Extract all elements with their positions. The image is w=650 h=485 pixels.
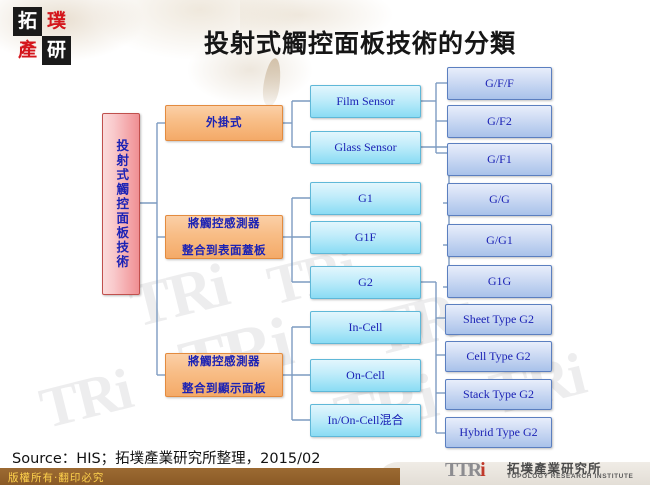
footer-copyright-bar: 版權所有‧翻印必究 — [0, 468, 400, 485]
node-level2-glass-sensor[interactable]: Glass Sensor — [310, 131, 421, 164]
node-level3-gf1[interactable]: G/F1 — [447, 143, 552, 176]
node-level2-in-cell[interactable]: In-Cell — [310, 311, 421, 344]
tri-brand-name-en: TOPOLOGY RESEARCH INSTITUTE — [507, 473, 633, 480]
node-label: Film Sensor — [336, 95, 394, 109]
node-root-label: 投射式觸控面板技術 — [114, 139, 128, 270]
node-level2-g1[interactable]: G1 — [310, 182, 421, 215]
node-label: G1F — [355, 231, 376, 245]
node-label: On-Cell — [346, 369, 385, 383]
node-label: In-Cell — [349, 321, 383, 335]
node-label: In/On-Cell混合 — [328, 414, 404, 428]
node-level2-on-cell[interactable]: On-Cell — [310, 359, 421, 392]
node-level3-stack-type-g2[interactable]: Stack Type G2 — [445, 379, 552, 410]
node-label-line2: 整合到表面蓋板 — [182, 244, 266, 257]
tri-wordmark-accent: i — [480, 459, 484, 481]
node-label: G/G — [489, 193, 510, 207]
node-label: G/F2 — [487, 115, 512, 129]
node-level1-sensor-in-display[interactable]: 將觸控感測器 整合到顯示面板 — [165, 353, 283, 397]
node-level3-gff[interactable]: G/F/F — [447, 67, 552, 100]
tri-wordmark: TTRi — [445, 459, 484, 482]
node-level2-film-sensor[interactable]: Film Sensor — [310, 85, 421, 118]
node-label: G1G — [488, 275, 511, 289]
node-level3-g1g[interactable]: G1G — [447, 265, 552, 298]
diagram-area: 投射式觸控面板技術 外掛式 將觸控感測器 整合到表面蓋板 將觸控感測器 整合到顯… — [0, 55, 650, 445]
node-level2-in-on-cell-hybrid[interactable]: In/On-Cell混合 — [310, 404, 421, 437]
node-level3-cell-type-g2[interactable]: Cell Type G2 — [445, 341, 552, 372]
node-label-line1: 將觸控感測器 — [182, 217, 266, 230]
node-label: G/G1 — [486, 234, 513, 248]
node-level3-gf2[interactable]: G/F2 — [447, 105, 552, 138]
logo-char-1: 拓 — [13, 7, 42, 36]
node-label: Hybrid Type G2 — [459, 426, 537, 440]
node-label-line2: 整合到顯示面板 — [182, 382, 266, 395]
node-label-line1: 將觸控感測器 — [182, 355, 266, 368]
node-level2-g2[interactable]: G2 — [310, 266, 421, 299]
node-label: Cell Type G2 — [466, 350, 530, 364]
node-root[interactable]: 投射式觸控面板技術 — [102, 113, 140, 295]
node-level3-gg[interactable]: G/G — [447, 183, 552, 216]
node-level1-external-type[interactable]: 外掛式 — [165, 105, 283, 141]
node-label: Stack Type G2 — [463, 388, 534, 402]
tri-brand-logo: TTRi 拓墣產業研究所 TOPOLOGY RESEARCH INSTITUTE — [445, 458, 645, 484]
logo-char-2: 璞 — [42, 7, 71, 36]
tri-wordmark-letters: TTR — [445, 459, 480, 481]
node-label: G2 — [358, 276, 373, 290]
node-level3-hybrid-type-g2[interactable]: Hybrid Type G2 — [445, 417, 552, 448]
node-level1-sensor-on-cover-glass[interactable]: 將觸控感測器 整合到表面蓋板 — [165, 215, 283, 259]
slide-canvas: TRi TRi TRi TRi TRi TRi TRi 拓 璞 產 研 投射式觸… — [0, 0, 650, 485]
node-label: 將觸控感測器 整合到表面蓋板 — [182, 217, 266, 257]
node-label: Sheet Type G2 — [463, 313, 534, 327]
source-note: Source：HIS；拓墣產業研究所整理，2015/02 — [12, 447, 320, 468]
node-level3-gg1[interactable]: G/G1 — [447, 224, 552, 257]
node-label: G/F/F — [485, 77, 514, 91]
node-label: G/F1 — [487, 153, 512, 167]
node-label: G1 — [358, 192, 373, 206]
node-label: Glass Sensor — [334, 141, 396, 155]
footer-copyright-text: 版權所有‧翻印必究 — [8, 470, 104, 485]
node-level3-sheet-type-g2[interactable]: Sheet Type G2 — [445, 304, 552, 335]
node-level2-g1f[interactable]: G1F — [310, 221, 421, 254]
node-label: 外掛式 — [206, 116, 242, 129]
node-label: 將觸控感測器 整合到顯示面板 — [182, 355, 266, 395]
